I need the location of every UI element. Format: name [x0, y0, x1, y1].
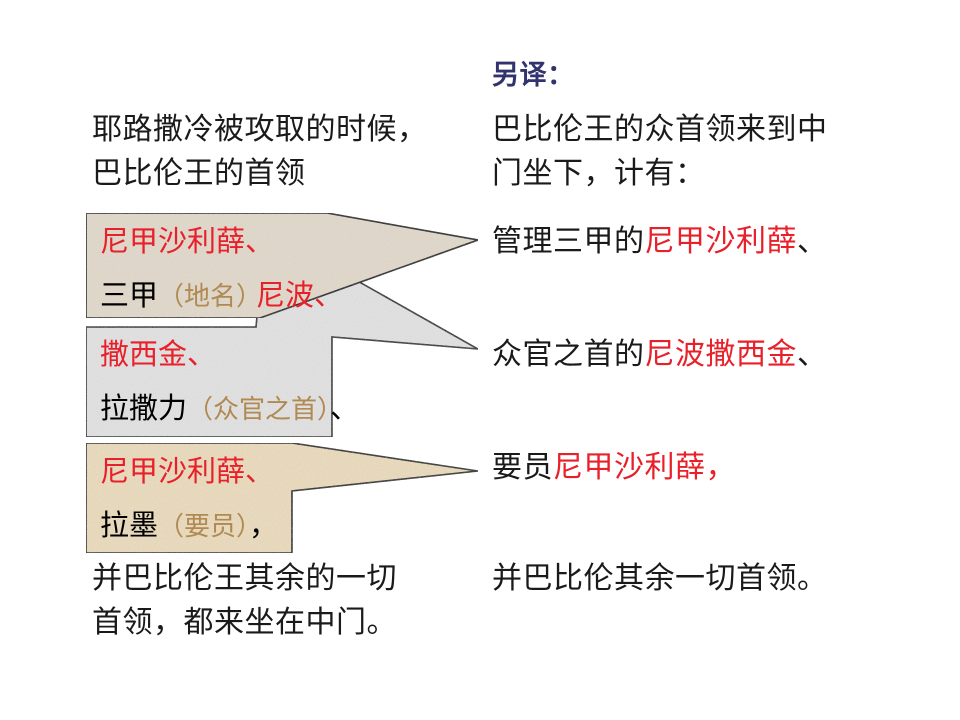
callout-2-line-2: 拉撒力（众官之首）、	[100, 388, 359, 430]
right-item-3-name: 尼甲沙利薛	[553, 450, 706, 485]
callout-2-annotation: （众官之首）	[187, 395, 330, 425]
left-tail-line-1: 并巴比伦王其余的一切	[92, 557, 397, 601]
right-intro-line-1: 巴比伦王的众首领来到中	[492, 108, 828, 152]
right-intro-line-2: 门坐下，计有：	[492, 152, 706, 196]
alternate-translation-header: 另译：	[492, 54, 575, 98]
right-item-2: 众官之首的尼波撒西金、	[492, 333, 828, 377]
callout-1-line-1: 尼甲沙利薛、	[100, 221, 274, 261]
right-item-2-name: 尼波撒西金	[645, 337, 798, 372]
callout-3-line-2-tail: ，	[249, 508, 278, 542]
right-item-1-name: 尼甲沙利薛	[645, 224, 798, 259]
right-item-1: 管理三甲的尼甲沙利薛、	[492, 220, 828, 264]
left-intro-line-1: 耶路撒冷被攻取的时候，	[92, 108, 428, 152]
right-item-3-suffix: ，	[706, 450, 737, 485]
callout-1-term: 三甲	[100, 278, 158, 312]
right-item-1-prefix: 管理三甲的	[492, 224, 645, 259]
callout-1-line-2: 三甲（地名）	[100, 275, 262, 317]
callout-2-line-2-tail: 、	[330, 391, 359, 425]
slide-canvas: 耶路撒冷被攻取的时候， 巴比伦王的首领 尼甲沙利薛、 三甲（地名） 尼波、 撒西…	[0, 0, 960, 720]
callout-3-line-2: 拉墨（要员），	[100, 505, 278, 547]
right-item-2-prefix: 众官之首的	[492, 337, 645, 372]
right-item-1-suffix: 、	[797, 224, 828, 259]
callout-2-notch-text: 尼波、	[256, 275, 343, 315]
right-item-2-suffix: 、	[797, 337, 828, 372]
left-intro-line-2: 巴比伦王的首领	[92, 152, 306, 196]
callout-2-line-1: 撒西金、	[100, 334, 216, 374]
callout-3-term: 拉墨	[100, 508, 158, 542]
left-tail-line-2: 首领，都来坐在中门。	[92, 601, 397, 645]
right-tail-line: 并巴比伦其余一切首领。	[492, 557, 828, 601]
callout-3-line-1: 尼甲沙利薛、	[100, 451, 274, 491]
right-item-3-prefix: 要员	[492, 450, 553, 485]
right-item-3: 要员尼甲沙利薛，	[492, 446, 736, 490]
callout-2-term: 拉撒力	[100, 391, 187, 425]
callout-1-annotation: （地名）	[158, 282, 262, 312]
callout-3-annotation: （要员）	[158, 512, 249, 542]
